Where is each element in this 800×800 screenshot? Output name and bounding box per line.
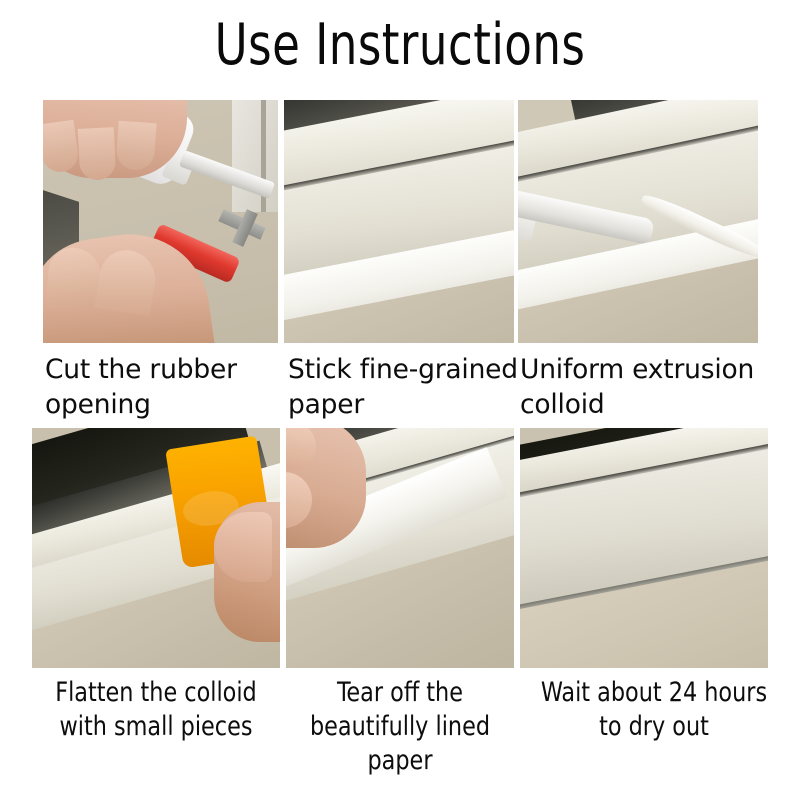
page-title: Use Instructions (48, 14, 752, 76)
step-2-masking-paper-photo (284, 100, 514, 343)
step-3-caption: Uniform extrusion colloid (520, 352, 770, 422)
step-4-illustration (32, 428, 280, 668)
step-6-illustration (520, 428, 768, 668)
step-4-caption: Flatten the colloid with small pieces (35, 676, 278, 744)
step-2-illustration (284, 100, 514, 343)
step-5-caption: Tear off the beautifully lined paper (290, 676, 511, 778)
steps-row-2: Flatten the colloid with small pieces Te… (0, 428, 800, 690)
step-6-dry-photo (520, 428, 768, 668)
step-1-caption: Cut the rubber opening (45, 352, 295, 422)
step-5-tear-paper-photo (286, 428, 514, 668)
step-2-caption: Stick fine-grained paper (288, 352, 518, 422)
step-6-caption: Wait about 24 hours to dry out (538, 676, 770, 744)
step-3-extrude-colloid-photo (518, 100, 758, 343)
instructions-page: Use Instructions (0, 0, 800, 800)
step-1-cut-nozzle-photo (43, 100, 278, 343)
steps-row-1: Cut the rubber opening Stick fine-graine… (0, 100, 800, 358)
step-1-illustration (43, 100, 278, 343)
step-4-flatten-colloid-photo (32, 428, 280, 668)
step-3-illustration (518, 100, 758, 343)
step-5-illustration (286, 428, 514, 668)
